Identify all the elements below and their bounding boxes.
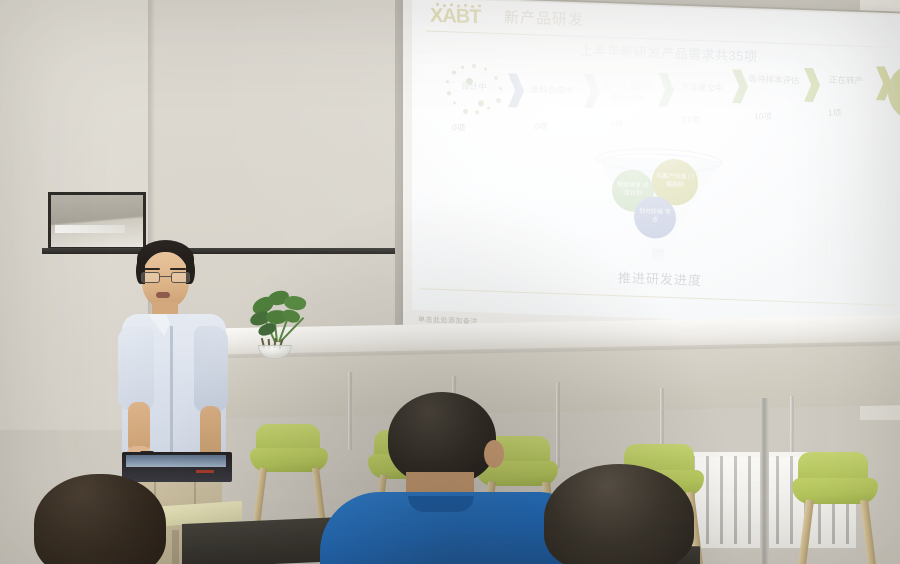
glasses-lens [171,272,190,283]
presenter-shirt-placket [170,326,173,462]
glasses-icon [141,272,190,283]
vertical-pipe [760,398,769,564]
chevron-right-icon [804,68,820,103]
pipeline-stage-count-4: 10项 [754,110,772,123]
slide-footer-divider [420,288,896,306]
presenter-mouth [156,292,170,298]
slide-title: 新产品研发 [504,6,584,30]
projected-slide: XABT 新产品研发 上半年新研发产品需求共35项 [412,0,900,327]
audience-collar [408,496,474,512]
pipeline-stage-count-3: 17项 [682,113,700,126]
audience-head [34,474,166,564]
pipeline-stage-count-5: 1项 [828,107,841,119]
pipeline-stage-count-0: 0项 [452,121,465,133]
audience-member-left [34,474,184,564]
audience-member-right [524,464,714,564]
pipeline-stage-label-1: 原料合成中 [524,84,580,97]
glasses-bridge [160,276,171,277]
monitor-screen [126,455,226,467]
pipeline-stage-label-5: 正在转产 [818,74,874,87]
glasses-lens [141,272,160,283]
audience-head [544,464,694,564]
chevron-right-icon [584,74,600,109]
presenter-sleeve [194,326,228,412]
audience-head [388,392,496,484]
chevron-right-icon [508,73,524,108]
pipeline-stage-label-0: 设计中 [446,79,502,93]
pipeline-stage-label-3: 方法建立中 [674,81,730,94]
funnel-bubble-2: 划分阶段 节点 [634,196,676,239]
slide-footer-caption: 推进研发进度 [598,266,722,289]
pipeline-stage-label-2: 原料合成完毕等待研发 [600,81,656,104]
presenter-eyebrow [144,268,160,270]
pipeline-stage-count-2: 4项 [610,117,623,129]
pipeline-end-node: 已 [888,63,900,123]
potted-plant [248,290,310,350]
funnel-diagram: 制定研发 进度计划 与客户沟通 门槛指标 划分阶段 节点 [594,142,724,265]
funnel-stem [652,248,664,262]
chevron-right-icon [658,73,674,108]
stool-leg [860,500,878,564]
presenter-sleeve [118,326,154,410]
pipeline-stage-count-1: 0项 [534,120,547,132]
presentation-scene: XABT 新产品研发 上半年新研发产品需求共35项 [0,0,900,564]
monitor-red-stripe [196,470,214,473]
company-logo: XABT [430,5,480,30]
presenter-eyebrow [170,268,186,270]
audience-ear [484,440,504,468]
pipeline-diagram: 设计中 原料合成中 原料合成完毕等待研发 方法建立中 等待样本评估 正在转产 已… [424,54,900,141]
pipeline-stage-label-4: 等待样本评估 [746,74,802,87]
